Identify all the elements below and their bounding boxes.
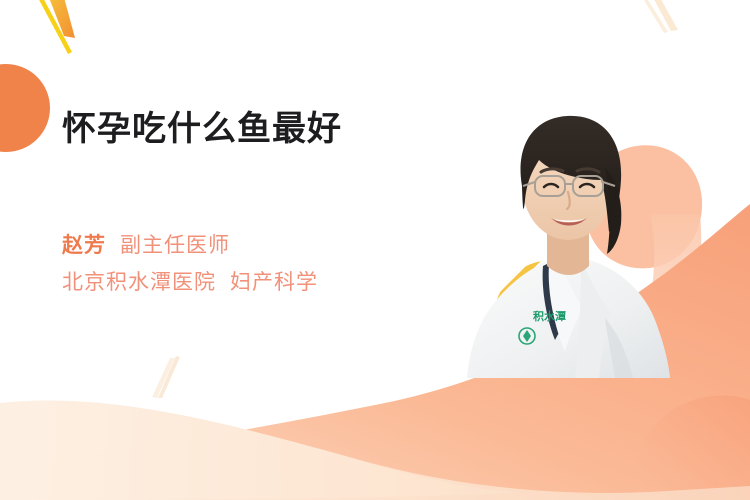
svg-text:积水潭: 积水潭: [533, 309, 566, 323]
doctor-header-card: 积水潭 怀孕吃什么鱼最好 赵芳副主任医师 北京积水潭医院妇产科学: [0, 0, 750, 500]
text-block: 怀孕吃什么鱼最好 赵芳副主任医师 北京积水潭医院妇产科学: [62, 108, 462, 293]
doctor-title: 副主任医师: [120, 234, 230, 257]
page-title: 怀孕吃什么鱼最好: [62, 108, 462, 151]
doctor-affiliation-line: 北京积水潭医院妇产科学: [62, 272, 462, 293]
doctor-name-line: 赵芳副主任医师: [62, 235, 462, 256]
doctor-name: 赵芳: [62, 234, 106, 257]
doctor-meta: 赵芳副主任医师 北京积水潭医院妇产科学: [62, 235, 462, 293]
doctor-hospital: 北京积水潭医院: [62, 271, 216, 294]
doctor-portrait: 积水潭: [455, 88, 680, 378]
doctor-portrait-illustration: 积水潭: [455, 88, 680, 378]
doctor-department: 妇产科学: [230, 271, 318, 294]
